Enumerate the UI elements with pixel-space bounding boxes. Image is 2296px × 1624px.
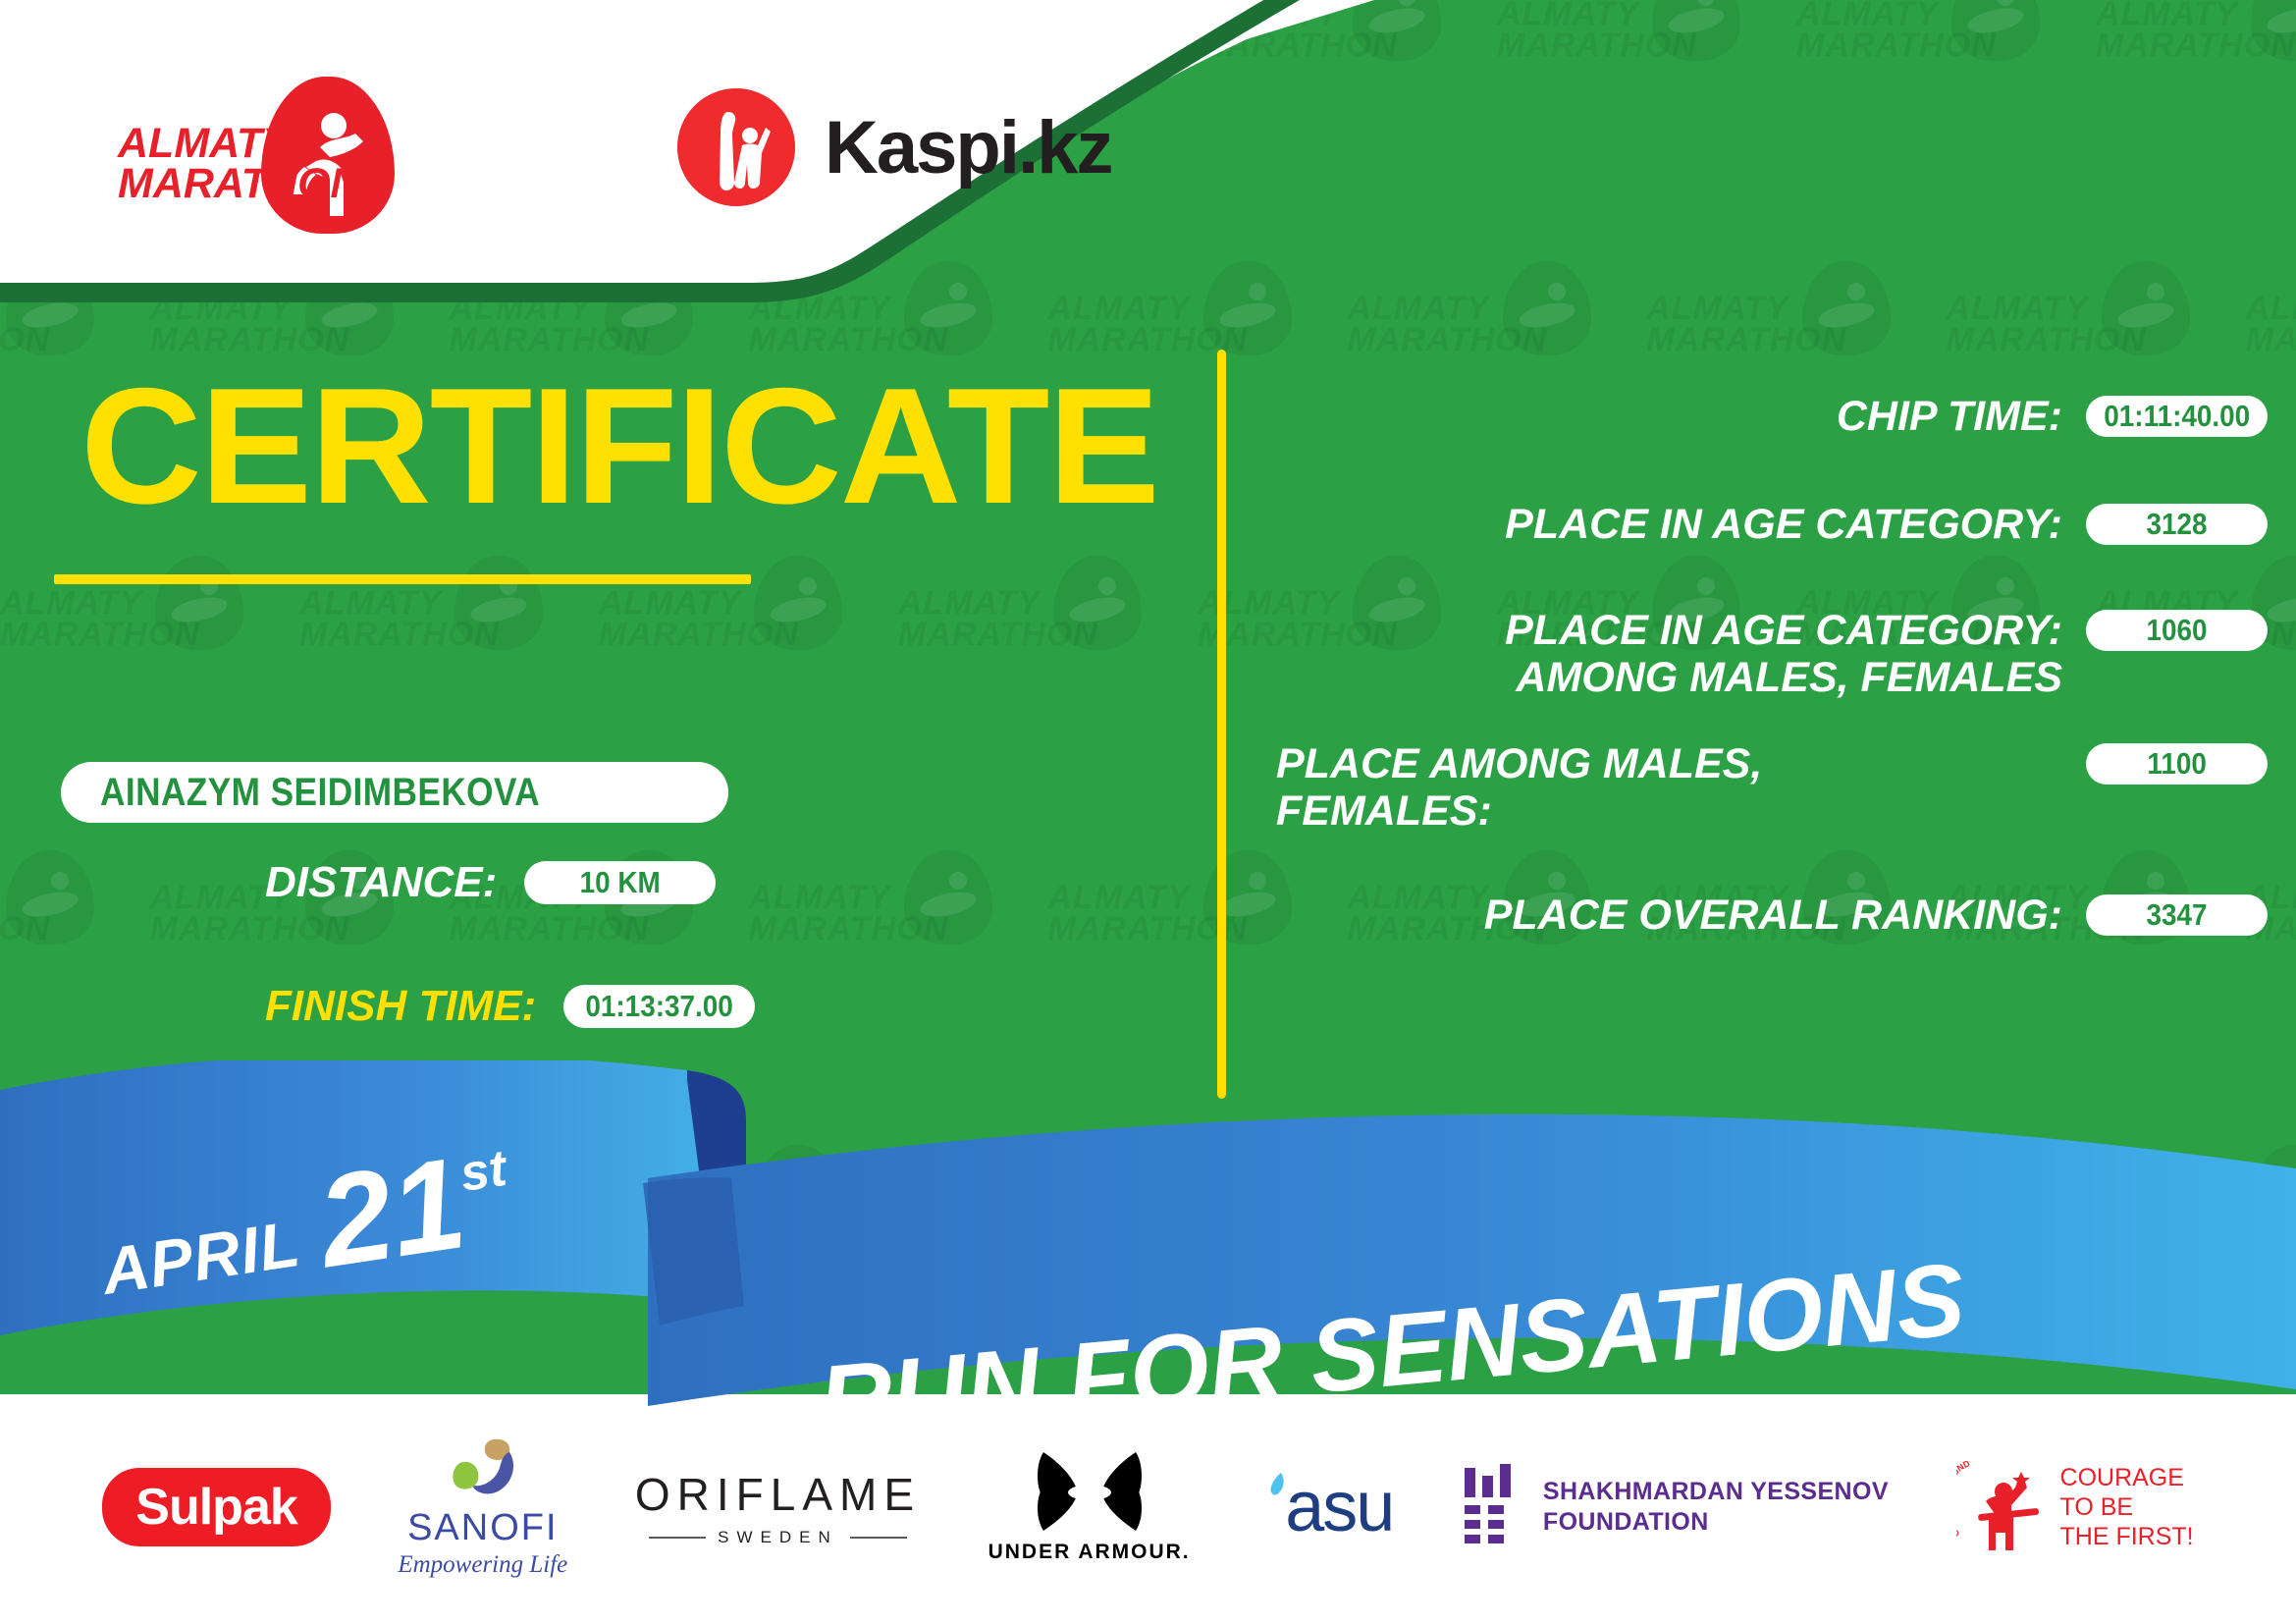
place-overall-value-pill: 3347 xyxy=(2086,894,2268,936)
sponsor-yessenov-foundation: SHAKHMARDAN YESSENOV FOUNDATION xyxy=(1461,1443,1889,1571)
header-logos: ALMATY MARATHON Kaspi.kz xyxy=(0,0,1374,295)
sponsor-under-armour: UNDER ARMOUR. xyxy=(988,1443,1191,1571)
place-among-gender-label: PLACE AMONG MALES, FEMALES: xyxy=(1276,740,2086,835)
oriflame-logo: ORIFLAME SWEDEN xyxy=(635,1468,921,1547)
watermark-text: ALMATYMARATHON xyxy=(2096,0,2296,62)
label-line-2: AMONG MALES, FEMALES xyxy=(1276,654,2062,701)
right-panel: CHIP TIME: 01:11:40.00 PLACE IN AGE CATE… xyxy=(1276,334,2296,1119)
place-age-category-gender-label: PLACE IN AGE CATEGORY: AMONG MALES, FEMA… xyxy=(1276,607,2086,701)
sponsor-strip: Sulpak SANOFI Empowering Life ORIFLAME S… xyxy=(0,1414,2296,1600)
place-age-category-value: 3128 xyxy=(2146,507,2207,542)
watermark-tile: ALMATYMARATHON xyxy=(2096,0,2296,108)
foundation-line-2: FOUNDATION xyxy=(1543,1507,1889,1538)
sponsor-sanofi: SANOFI Empowering Life xyxy=(398,1443,567,1571)
yessenov-foundation-logo: SHAKHMARDAN YESSENOV FOUNDATION xyxy=(1461,1464,1889,1550)
yessenov-foundation-wordmark: SHAKHMARDAN YESSENOV FOUNDATION xyxy=(1543,1477,1889,1539)
vertical-divider xyxy=(1217,350,1226,1099)
oriflame-sweden-label: SWEDEN xyxy=(649,1528,907,1547)
under-armour-wordmark: UNDER ARMOUR. xyxy=(988,1541,1191,1564)
chip-time-label: CHIP TIME: xyxy=(1276,393,2086,440)
sulpak-logo: Sulpak xyxy=(102,1468,331,1546)
place-age-category-value-pill: 3128 xyxy=(2086,504,2268,545)
courage-figure-icon: CORPORATE FUND xyxy=(1956,1460,2047,1554)
kaspi-logo: Kaspi.kz xyxy=(677,88,1111,206)
watermark-text: ALMATYMARATHON xyxy=(1796,0,1997,62)
courage-line-1: COURAGE xyxy=(2060,1463,2194,1492)
place-overall-value: 3347 xyxy=(2146,897,2207,933)
sponsor-asu: asu xyxy=(1257,1443,1393,1571)
label-line-1: PLACE IN AGE CATEGORY: xyxy=(1276,607,2062,654)
title-underline xyxy=(54,574,751,584)
place-age-category-row: PLACE IN AGE CATEGORY: 3128 xyxy=(1276,501,2268,548)
courage-line-2: TO BE xyxy=(2060,1492,2194,1522)
chip-time-value: 01:11:40.00 xyxy=(2104,399,2250,434)
finish-time-value-pill: 01:13:37.00 xyxy=(563,985,755,1028)
watermark-tile: ALMATYMARATHON xyxy=(1796,0,2052,108)
finish-time-label: FINISH TIME: xyxy=(265,982,536,1031)
watermark-text: ALMATYMARATHON xyxy=(1497,0,1697,62)
place-among-gender-row: PLACE AMONG MALES, FEMALES: 1100 xyxy=(1276,740,2268,835)
sponsor-courage-fund: CORPORATE FUND COURAGE TO BE THE FIRST! xyxy=(1956,1443,2194,1571)
place-overall-label: PLACE OVERALL RANKING: xyxy=(1276,892,2086,939)
event-day: 21 xyxy=(313,1150,471,1276)
kaspi-wordmark: Kaspi.kz xyxy=(825,105,1111,190)
almaty-marathon-wordmark: ALMATY MARATHON xyxy=(118,124,361,205)
courage-line-3: THE FIRST! xyxy=(2060,1522,2194,1551)
distance-value: 10 KM xyxy=(580,865,661,900)
event-day-suffix: st xyxy=(457,1143,509,1200)
oriflame-wordmark: ORIFLAME xyxy=(635,1468,921,1521)
label-line-1: PLACE AMONG MALES, xyxy=(1276,740,2062,787)
marathon-word: MARATHON xyxy=(118,164,361,204)
finish-time-value: 01:13:37.00 xyxy=(585,989,732,1024)
asu-wordmark: asu xyxy=(1285,1467,1393,1547)
under-armour-mark-icon xyxy=(1032,1450,1148,1533)
sponsor-oriflame: ORIFLAME SWEDEN xyxy=(635,1443,921,1571)
athlete-name-field: AINAZYM SEIDIMBEKOVA xyxy=(61,762,728,823)
sanofi-tagline: Empowering Life xyxy=(398,1551,567,1579)
certificate-page: ALMATYMARATHONALMATYMARATHONALMATYMARATH… xyxy=(0,0,2296,1624)
place-overall-row: PLACE OVERALL RANKING: 3347 xyxy=(1276,892,2268,939)
place-among-gender-value-pill: 1100 xyxy=(2086,743,2268,785)
courage-fund-logo: CORPORATE FUND COURAGE TO BE THE FIRST! xyxy=(1956,1460,2194,1554)
svg-text:CORPORATE FUND: CORPORATE FUND xyxy=(1956,1460,1972,1539)
kaspi-people-icon xyxy=(677,88,795,206)
yessenov-bars-icon xyxy=(1461,1464,1522,1550)
watermark-tile: ALMATYMARATHON xyxy=(1497,0,1752,108)
asu-logo: asu xyxy=(1257,1467,1393,1547)
event-ribbon: APRIL 21 st RUN FOR SENSATIONS xyxy=(0,1060,2296,1473)
place-among-gender-value: 1100 xyxy=(2147,746,2207,782)
page-title: CERTIFICATE xyxy=(80,363,1158,528)
distance-label: DISTANCE: xyxy=(265,858,497,907)
left-panel: CERTIFICATE AINAZYM SEIDIMBEKOVA DISTANC… xyxy=(0,334,1168,1119)
athlete-name-value: AINAZYM SEIDIMBEKOVA xyxy=(100,771,540,815)
place-age-category-gender-row: PLACE IN AGE CATEGORY: AMONG MALES, FEMA… xyxy=(1276,607,2268,701)
label-line-2: FEMALES: xyxy=(1276,787,2062,835)
foundation-line-1: SHAKHMARDAN YESSENOV xyxy=(1543,1477,1889,1507)
finish-time-row: FINISH TIME: 01:13:37.00 xyxy=(265,982,755,1031)
distance-row: DISTANCE: 10 KM xyxy=(265,858,716,907)
sanofi-wordmark: SANOFI xyxy=(407,1507,558,1549)
sanofi-logo: SANOFI Empowering Life xyxy=(398,1436,567,1579)
courage-fund-wordmark: COURAGE TO BE THE FIRST! xyxy=(2060,1463,2194,1551)
place-age-category-gender-value-pill: 1060 xyxy=(2086,610,2268,651)
place-age-category-gender-value: 1060 xyxy=(2146,613,2207,648)
place-age-category-label: PLACE IN AGE CATEGORY: xyxy=(1276,501,2086,548)
under-armour-logo: UNDER ARMOUR. xyxy=(988,1450,1191,1564)
chip-time-row: CHIP TIME: 01:11:40.00 xyxy=(1276,393,2268,440)
almaty-word: ALMATY xyxy=(118,124,361,164)
chip-time-value-pill: 01:11:40.00 xyxy=(2086,396,2268,437)
sanofi-mark-icon xyxy=(441,1436,525,1505)
distance-value-pill: 10 KM xyxy=(524,861,716,904)
almaty-marathon-logo: ALMATY MARATHON xyxy=(118,69,442,226)
sponsor-sulpak: Sulpak xyxy=(102,1443,331,1571)
